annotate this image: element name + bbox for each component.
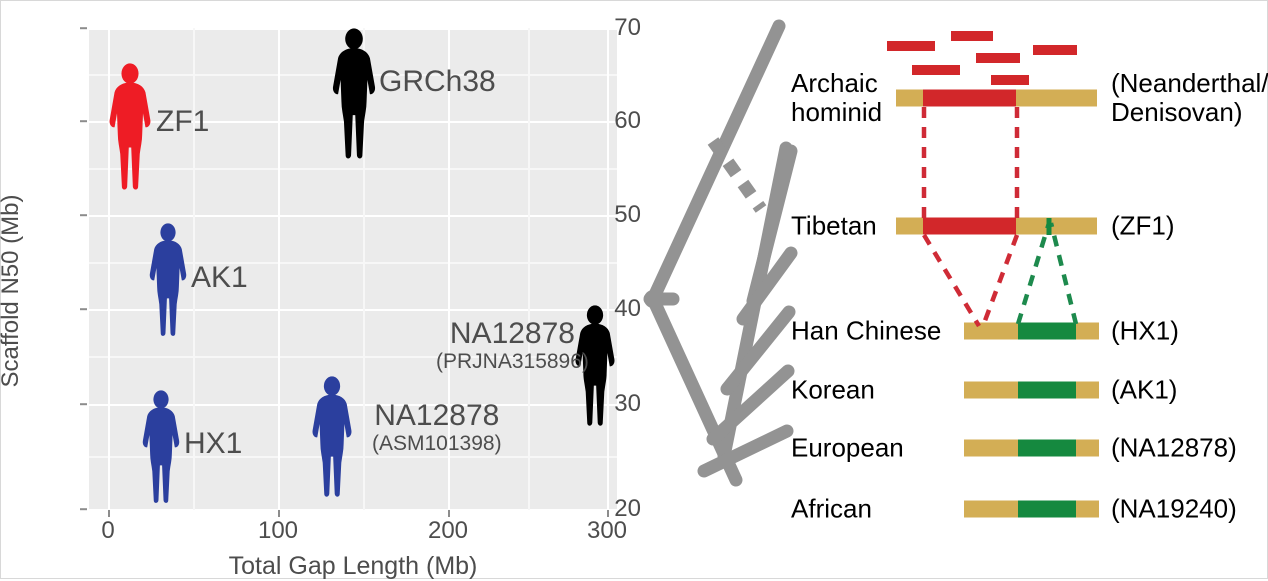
y-tick-mark-40 [80,308,87,310]
datapoint-label-na12878-prjna-sub: (PRJNA315896) [436,351,589,372]
phylogeny-panel: Archaic hominid Tibetan Han Chinese Kore… [631,1,1268,580]
datapoint-label-na12878-prjna-main: NA12878 [450,317,575,350]
read-fragment [1033,45,1077,55]
haplotype-bar-african[interactable] [964,501,1099,518]
taxon-label-european: European [791,433,904,462]
datapoint-figure-na12878-asm[interactable] [300,376,364,500]
read-fragment [976,53,1020,63]
read-fragment [912,65,960,75]
branch-introgression-dashed [713,141,761,209]
datapoint-label-ak1: AK1 [191,263,248,293]
haplotype-segment-han-chinese-green [1018,323,1076,340]
datapoint-label-hx1: HX1 [184,429,242,459]
taxon-label-tibetan: Tibetan [791,211,877,240]
gridline-y-minor-55 [89,168,617,170]
read-fragment [991,75,1029,85]
haplotype-segment-european-green [1018,440,1076,457]
haplotype-segment-tibetan-introgressed [923,218,1016,235]
x-axis-title: Total Gap Length (Mb) [89,552,617,581]
x-tick-mark-0 [108,510,110,517]
datapoint-figure-zf1[interactable] [95,63,165,193]
datapoint-label-grch38: GRCh38 [379,67,496,97]
taxon-label-archaic-hominid: Archaic hominid [791,69,882,127]
y-tick-mark-30 [80,403,87,405]
x-tick-mark-200 [448,510,450,517]
scatter-plot-panel: 70 60 50 40 30 20 0 100 200 300 Scaffold… [1,1,641,580]
sample-label-han-chinese: (HX1) [1111,316,1179,345]
sample-label-archaic-line1: (Neanderthal/ [1111,69,1268,98]
y-tick-mark-70 [80,27,87,29]
haplotype-segment-archaic-introgressed [923,90,1016,107]
datapoint-figure-hx1[interactable] [130,390,192,506]
haplotype-segment-korean-green [1018,382,1076,399]
sample-label-tibetan: (ZF1) [1111,211,1175,240]
taxon-label-korean: Korean [791,375,875,404]
y-tick-mark-50 [80,214,87,216]
x-tick-label-200: 200 [428,517,468,545]
datapoint-label-na12878-asm-main: NA12878 [374,399,499,432]
y-tick-mark-60 [80,120,87,122]
taxon-label-archaic-line1: Archaic [791,69,882,98]
datapoint-label-zf1: ZF1 [156,107,209,137]
haplotype-bar-tibetan[interactable] [896,218,1097,235]
read-fragment [951,31,993,41]
x-tick-label-0: 0 [101,517,114,545]
read-fragment [887,41,935,51]
x-tick-mark-300 [607,510,609,517]
gridline-x-100 [278,28,280,510]
x-tick-label-300: 300 [587,517,627,545]
datapoint-label-na12878-asm-sub: (ASM101398) [372,433,502,454]
figure-root: 70 60 50 40 30 20 0 100 200 300 Scaffold… [0,0,1268,579]
taxon-label-archaic-line2: hominid [791,98,882,127]
gridline-x-300 [607,28,609,510]
y-axis-title: Scaffold N50 (Mb) [0,61,25,521]
sample-label-african: (NA19240) [1111,494,1237,523]
sample-label-archaic: (Neanderthal/ Denisovan) [1111,69,1268,127]
sample-label-korean: (AK1) [1111,375,1177,404]
taxon-label-han-chinese: Han Chinese [791,316,941,345]
haplotype-segment-african-green [1018,501,1076,518]
datapoint-label-na12878-asm: NA12878 (ASM101398) [372,401,502,454]
sample-label-european: (NA12878) [1111,433,1237,462]
haplotype-bar-archaic[interactable] [896,90,1097,107]
sample-label-archaic-line2: Denisovan) [1111,98,1268,127]
x-tick-label-100: 100 [258,517,298,545]
haplotype-bar-korean[interactable] [964,382,1099,399]
datapoint-figure-ak1[interactable] [137,223,199,339]
gridline-x-minor-250 [528,28,530,510]
tree-root-node [644,290,662,308]
taxon-label-african: African [791,494,872,523]
gridline-y-20 [89,509,617,511]
y-tick-mark-20 [80,508,87,510]
x-tick-mark-100 [278,510,280,517]
haplotype-bar-european[interactable] [964,440,1099,457]
gridline-y-50 [89,215,617,217]
haplotype-bar-han-chinese[interactable] [964,323,1099,340]
datapoint-label-na12878-prjna: NA12878 (PRJNA315896) [436,319,589,372]
